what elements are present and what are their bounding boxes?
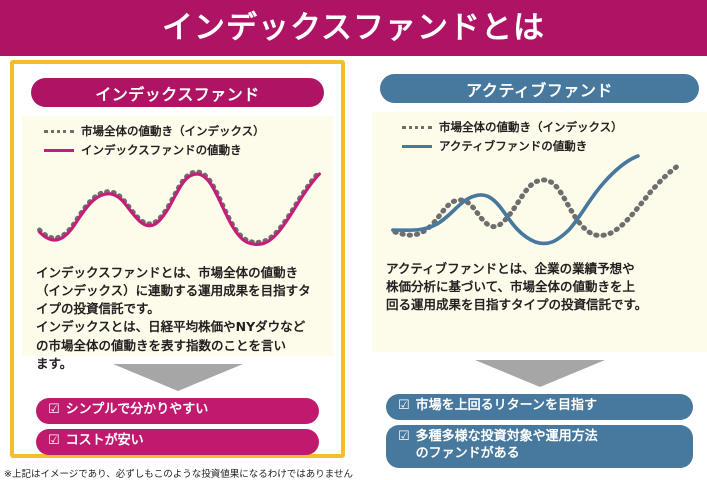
panel-active-fund: アクティブファンド 市場全体の値動き（インデックス） アクティブファンドの値動き [372,60,707,458]
bullet-list-index-fund: ☑ シンプルで分かりやすい ☑ コストが安い [36,398,319,460]
legend-item-label: インデックスファンドの値動き [81,142,242,158]
checkbox-checked-icon: ☑ [398,429,410,446]
down-arrow-icon [475,360,605,387]
legend-item: 市場全体の値動き（インデックス） [44,122,265,139]
legend-item-label: 市場全体の値動き（インデックス） [81,123,265,139]
solid-line-icon [44,145,74,155]
description-text: インデックスファンドとは、市場全体の値動き （インデックス）に連動する運用成果を… [36,264,319,373]
dotted-line-icon [402,122,432,132]
panel-header-index-fund: インデックスファンド [31,78,324,107]
page-title: インデックスファンドとは [162,13,545,44]
checkbox-checked-icon: ☑ [398,398,410,415]
bullet-list-active-fund: ☑ 市場を上回るリターンを目指す ☑ 多種多様な投資対象や運用方法 のファンドが… [386,394,693,473]
bullet-item-label: 市場を上回るリターンを目指す [416,398,597,415]
footer-note: ※上記はイメージであり、必ずしもこのような投資値果になるわけではありません [4,466,704,480]
page-title-banner: インデックスファンドとは [0,0,707,56]
solid-line-icon [402,141,432,151]
description-text: アクティブファンドとは、企業の業績予想や 株価分析に基づいて、市場全体の値動きを… [386,260,693,314]
legend-item: インデックスファンドの値動き [44,141,265,158]
legend-item-label: 市場全体の値動き（インデックス） [439,119,623,135]
bullet-item-label: コストが安い [66,433,144,450]
legend-item: アクティブファンドの値動き [402,137,623,154]
panel-index-fund: インデックスファンド 市場全体の値動き（インデックス） インデックスファンドの値… [10,60,345,458]
chart-active-fund [372,154,707,254]
chart-legend-active-fund: 市場全体の値動き（インデックス） アクティブファンドの値動き [402,118,623,156]
bullet-item-label: 多種多様な投資対象や運用方法 のファンドがある [416,429,598,463]
comparison-columns: インデックスファンド 市場全体の値動き（インデックス） インデックスファンドの値… [0,60,707,460]
legend-item-label: アクティブファンドの値動き [439,138,587,154]
chart-legend-index-fund: 市場全体の値動き（インデックス） インデックスファンドの値動き [44,122,265,160]
bullet-item-label: シンプルで分かりやすい [66,402,209,419]
down-arrow-icon [113,364,243,391]
description-index-fund: インデックスファンドとは、市場全体の値動き （インデックス）に連動する運用成果を… [22,260,333,356]
checkbox-checked-icon: ☑ [48,402,60,419]
bullet-item: ☑ コストが安い [36,429,319,455]
description-active-fund: アクティブファンドとは、企業の業績予想や 株価分析に基づいて、市場全体の値動きを… [372,256,707,352]
bullet-item: ☑ 多種多様な投資対象や運用方法 のファンドがある [386,425,693,468]
dotted-line-icon [44,126,74,136]
panel-header-active-fund: アクティブファンド [380,74,699,103]
bullet-item: ☑ 市場を上回るリターンを目指す [386,394,693,420]
panel-header-label: インデックスファンド [95,81,260,105]
legend-item: 市場全体の値動き（インデックス） [402,118,623,135]
bullet-item: ☑ シンプルで分かりやすい [36,398,319,424]
checkbox-checked-icon: ☑ [48,433,60,450]
panel-header-label: アクティブファンド [466,77,613,101]
chart-index-fund [22,158,333,258]
